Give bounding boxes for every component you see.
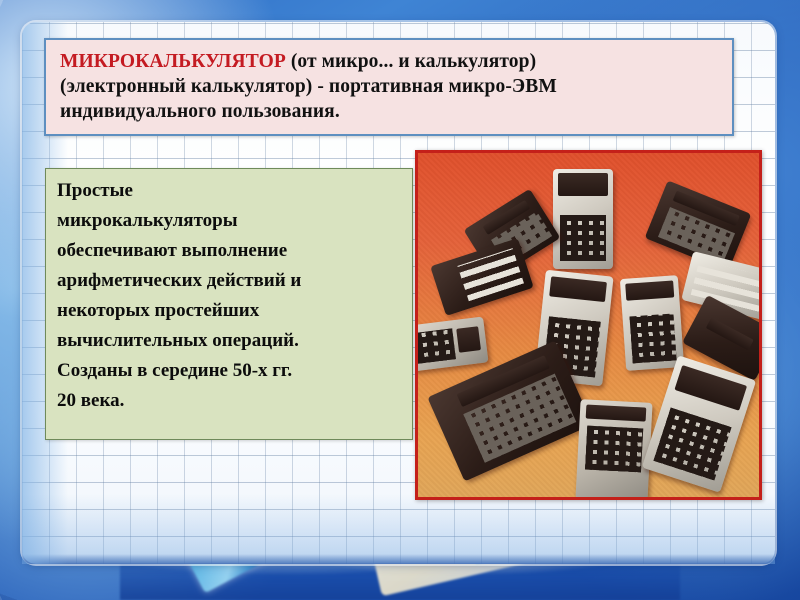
green-term-line-1: Простые bbox=[57, 176, 402, 206]
green-term-line-2: микрокалькуляторы bbox=[57, 206, 402, 236]
photo-calculator-bottom-center bbox=[575, 399, 652, 500]
photo-calculator-top bbox=[553, 169, 613, 269]
green-body-line-5: Созданы в середине 50-х гг. bbox=[57, 356, 402, 386]
title-line-3: индивидуального пользования. bbox=[60, 99, 718, 124]
green-body-line-6: 20 века. bbox=[57, 386, 402, 416]
green-body-line-2: арифметических действий и bbox=[57, 266, 402, 296]
calculator-photo bbox=[415, 150, 762, 500]
photo-calculator-far-left bbox=[415, 317, 489, 372]
slide-root: МИКРОКАЛЬКУЛЯТОР (от микро... и калькуля… bbox=[0, 0, 800, 600]
title-line-2: (электронный калькулятор) - портативная … bbox=[60, 74, 718, 99]
green-body-line-3: некоторых простейших bbox=[57, 296, 402, 326]
green-body-line-4: вычислительных операций. bbox=[57, 326, 402, 356]
title-line-1: МИКРОКАЛЬКУЛЯТОР (от микро... и калькуля… bbox=[60, 49, 718, 74]
green-text-card: Простые микрокалькуляторы обеспечивают в… bbox=[45, 168, 413, 440]
photo-calculator-center-right bbox=[620, 275, 684, 371]
title-card: МИКРОКАЛЬКУЛЯТОР (от микро... и калькуля… bbox=[44, 38, 734, 136]
title-term: МИКРОКАЛЬКУЛЯТОР bbox=[60, 51, 286, 72]
title-line-1-rest: (от микро... и калькулятор) bbox=[286, 51, 536, 72]
green-body-line-1: обеспечивают выполнение bbox=[57, 236, 402, 266]
